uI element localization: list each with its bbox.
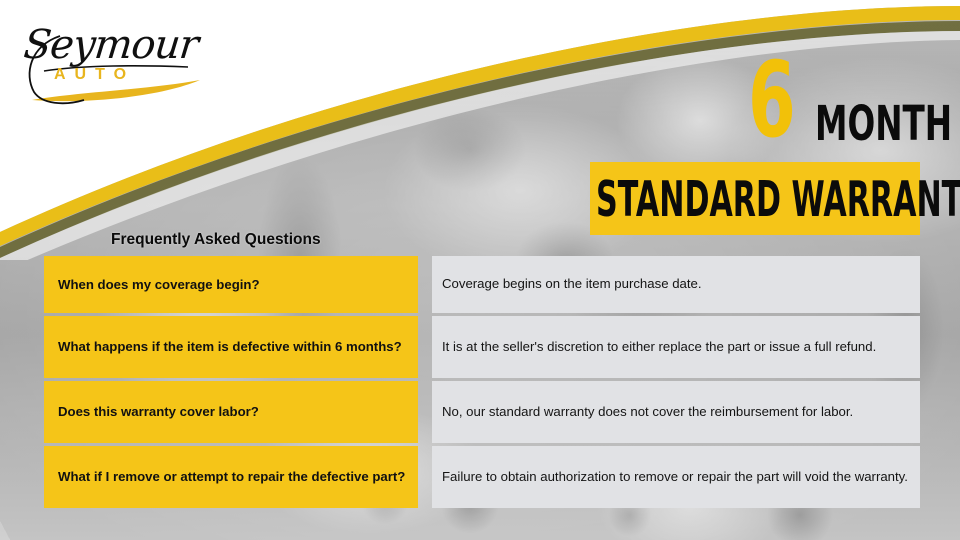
standard-warranty-label: STANDARD WARRANTY xyxy=(596,175,960,224)
faq-question-cell: Does this warranty cover labor? xyxy=(44,381,418,443)
faq-answer-cell: It is at the seller's discretion to eith… xyxy=(432,316,920,378)
table-row: What happens if the item is defective wi… xyxy=(44,316,920,378)
standard-warranty-banner: STANDARD WARRANTY xyxy=(590,162,920,235)
faq-answer-cell: Coverage begins on the item purchase dat… xyxy=(432,256,920,313)
column-gap xyxy=(418,446,432,508)
logo-script-tail xyxy=(20,30,90,108)
column-gap xyxy=(418,256,432,313)
table-row: When does my coverage begin? Coverage be… xyxy=(44,256,920,313)
faq-heading: Frequently Asked Questions xyxy=(111,231,321,249)
warranty-duration-number: 6 xyxy=(748,48,794,152)
brand-logo: Seymour AUTO xyxy=(18,22,203,108)
faq-question-cell: What if I remove or attempt to repair th… xyxy=(44,446,418,508)
table-row: Does this warranty cover labor? No, our … xyxy=(44,381,920,443)
column-gap xyxy=(418,316,432,378)
table-row: What if I remove or attempt to repair th… xyxy=(44,446,920,508)
column-gap xyxy=(418,381,432,443)
faq-question-cell: What happens if the item is defective wi… xyxy=(44,316,418,378)
faq-table: When does my coverage begin? Coverage be… xyxy=(44,256,920,508)
faq-question-cell: When does my coverage begin? xyxy=(44,256,418,313)
faq-answer-cell: Failure to obtain authorization to remov… xyxy=(432,446,920,508)
faq-answer-cell: No, our standard warranty does not cover… xyxy=(432,381,920,443)
warranty-slide: Seymour AUTO 6 MONTH STANDARD WARRANTY F… xyxy=(0,0,960,540)
warranty-duration-unit: MONTH xyxy=(815,100,952,148)
